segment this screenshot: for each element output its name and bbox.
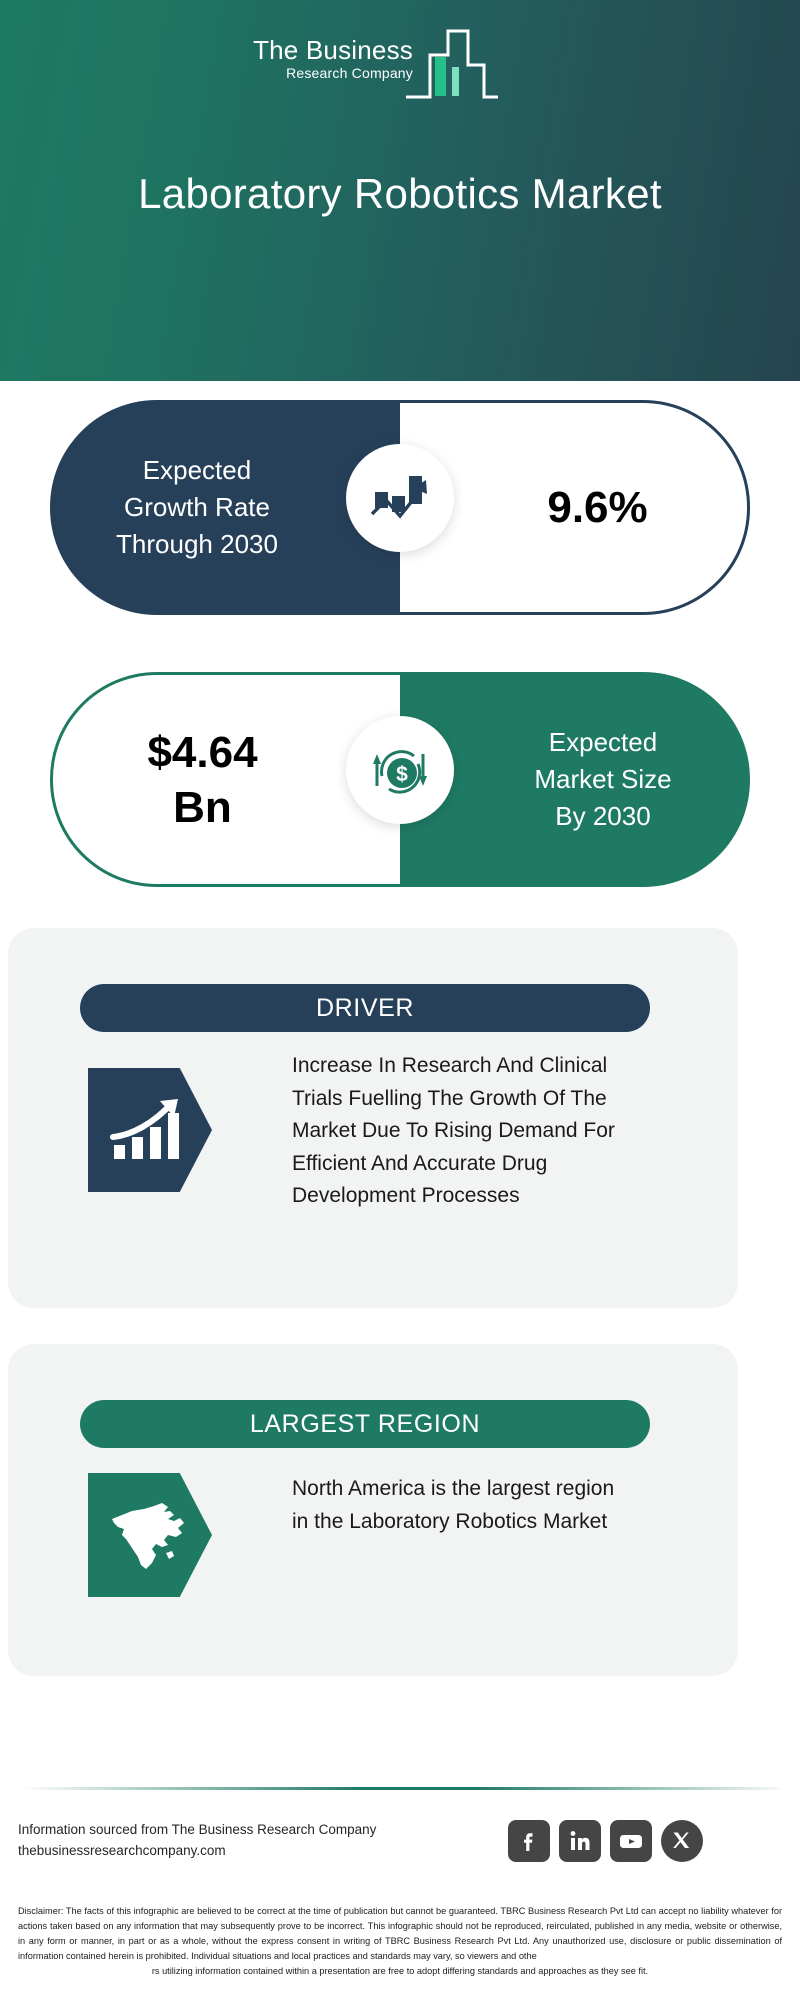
disclaimer-text: Disclaimer: The facts of this infographi… <box>18 1904 782 1979</box>
header-banner: The Business Research Company Laboratory… <box>0 0 800 381</box>
driver-body-text: Increase In Research And Clinical Trials… <box>292 1050 622 1213</box>
market-size-label: Expected Market Size By 2030 <box>478 724 671 835</box>
growth-label-line-1: Expected <box>143 455 251 485</box>
disclaimer-main: Disclaimer: The facts of this infographi… <box>18 1906 782 1961</box>
market-size-value: $4.64 Bn <box>147 725 305 835</box>
source-line-1: Information sourced from The Business Re… <box>18 1820 376 1841</box>
disclaimer-last-line: rs utilizing information contained withi… <box>18 1964 782 1979</box>
bar-chart-logo-icon <box>404 25 500 108</box>
social-links <box>508 1820 703 1862</box>
growth-rate-label: Expected Growth Rate Through 2030 <box>116 452 334 563</box>
market-size-value-line-2: Bn <box>173 783 232 832</box>
youtube-icon[interactable] <box>610 1820 652 1862</box>
stat-card-growth-rate: Expected Growth Rate Through 2030 9.6% <box>50 400 750 615</box>
logo-line-1: The Business <box>218 37 413 63</box>
dollar-cycle-icon: $ <box>346 716 454 824</box>
source-line-2[interactable]: thebusinessresearchcompany.com <box>18 1841 376 1862</box>
growth-rate-value: 9.6% <box>499 480 647 535</box>
stat-card-market-size: $4.64 Bn Expected Market Size By 2030 $ <box>50 672 750 887</box>
region-heading-pill: LARGEST REGION <box>80 1400 650 1448</box>
svg-text:$: $ <box>396 763 408 786</box>
size-label-line-3: By 2030 <box>555 801 650 831</box>
logo-line-2: Research Company <box>218 63 413 84</box>
market-size-value-line-1: $4.64 <box>147 728 257 777</box>
footer-divider <box>20 1787 780 1790</box>
infographic-page: The Business Research Company Laboratory… <box>0 0 800 2000</box>
driver-heading-label: DRIVER <box>316 994 414 1023</box>
driver-heading-pill: DRIVER <box>80 984 650 1032</box>
facebook-icon[interactable] <box>508 1820 550 1862</box>
linkedin-icon[interactable] <box>559 1820 601 1862</box>
company-logo: The Business Research Company <box>218 25 503 103</box>
size-label-line-2: Market Size <box>534 764 671 794</box>
source-attribution: Information sourced from The Business Re… <box>18 1820 376 1862</box>
logo-wordmark: The Business Research Company <box>218 37 413 84</box>
region-body-text: North America is the largest region in t… <box>292 1473 622 1538</box>
x-twitter-icon[interactable] <box>661 1820 703 1862</box>
region-heading-label: LARGEST REGION <box>250 1410 480 1439</box>
growth-label-line-3: Through 2030 <box>116 529 278 559</box>
size-label-line-1: Expected <box>549 727 657 757</box>
page-title: Laboratory Robotics Market <box>0 170 800 218</box>
growth-chart-arrow-icon <box>346 444 454 552</box>
growth-label-line-2: Growth Rate <box>124 492 270 522</box>
